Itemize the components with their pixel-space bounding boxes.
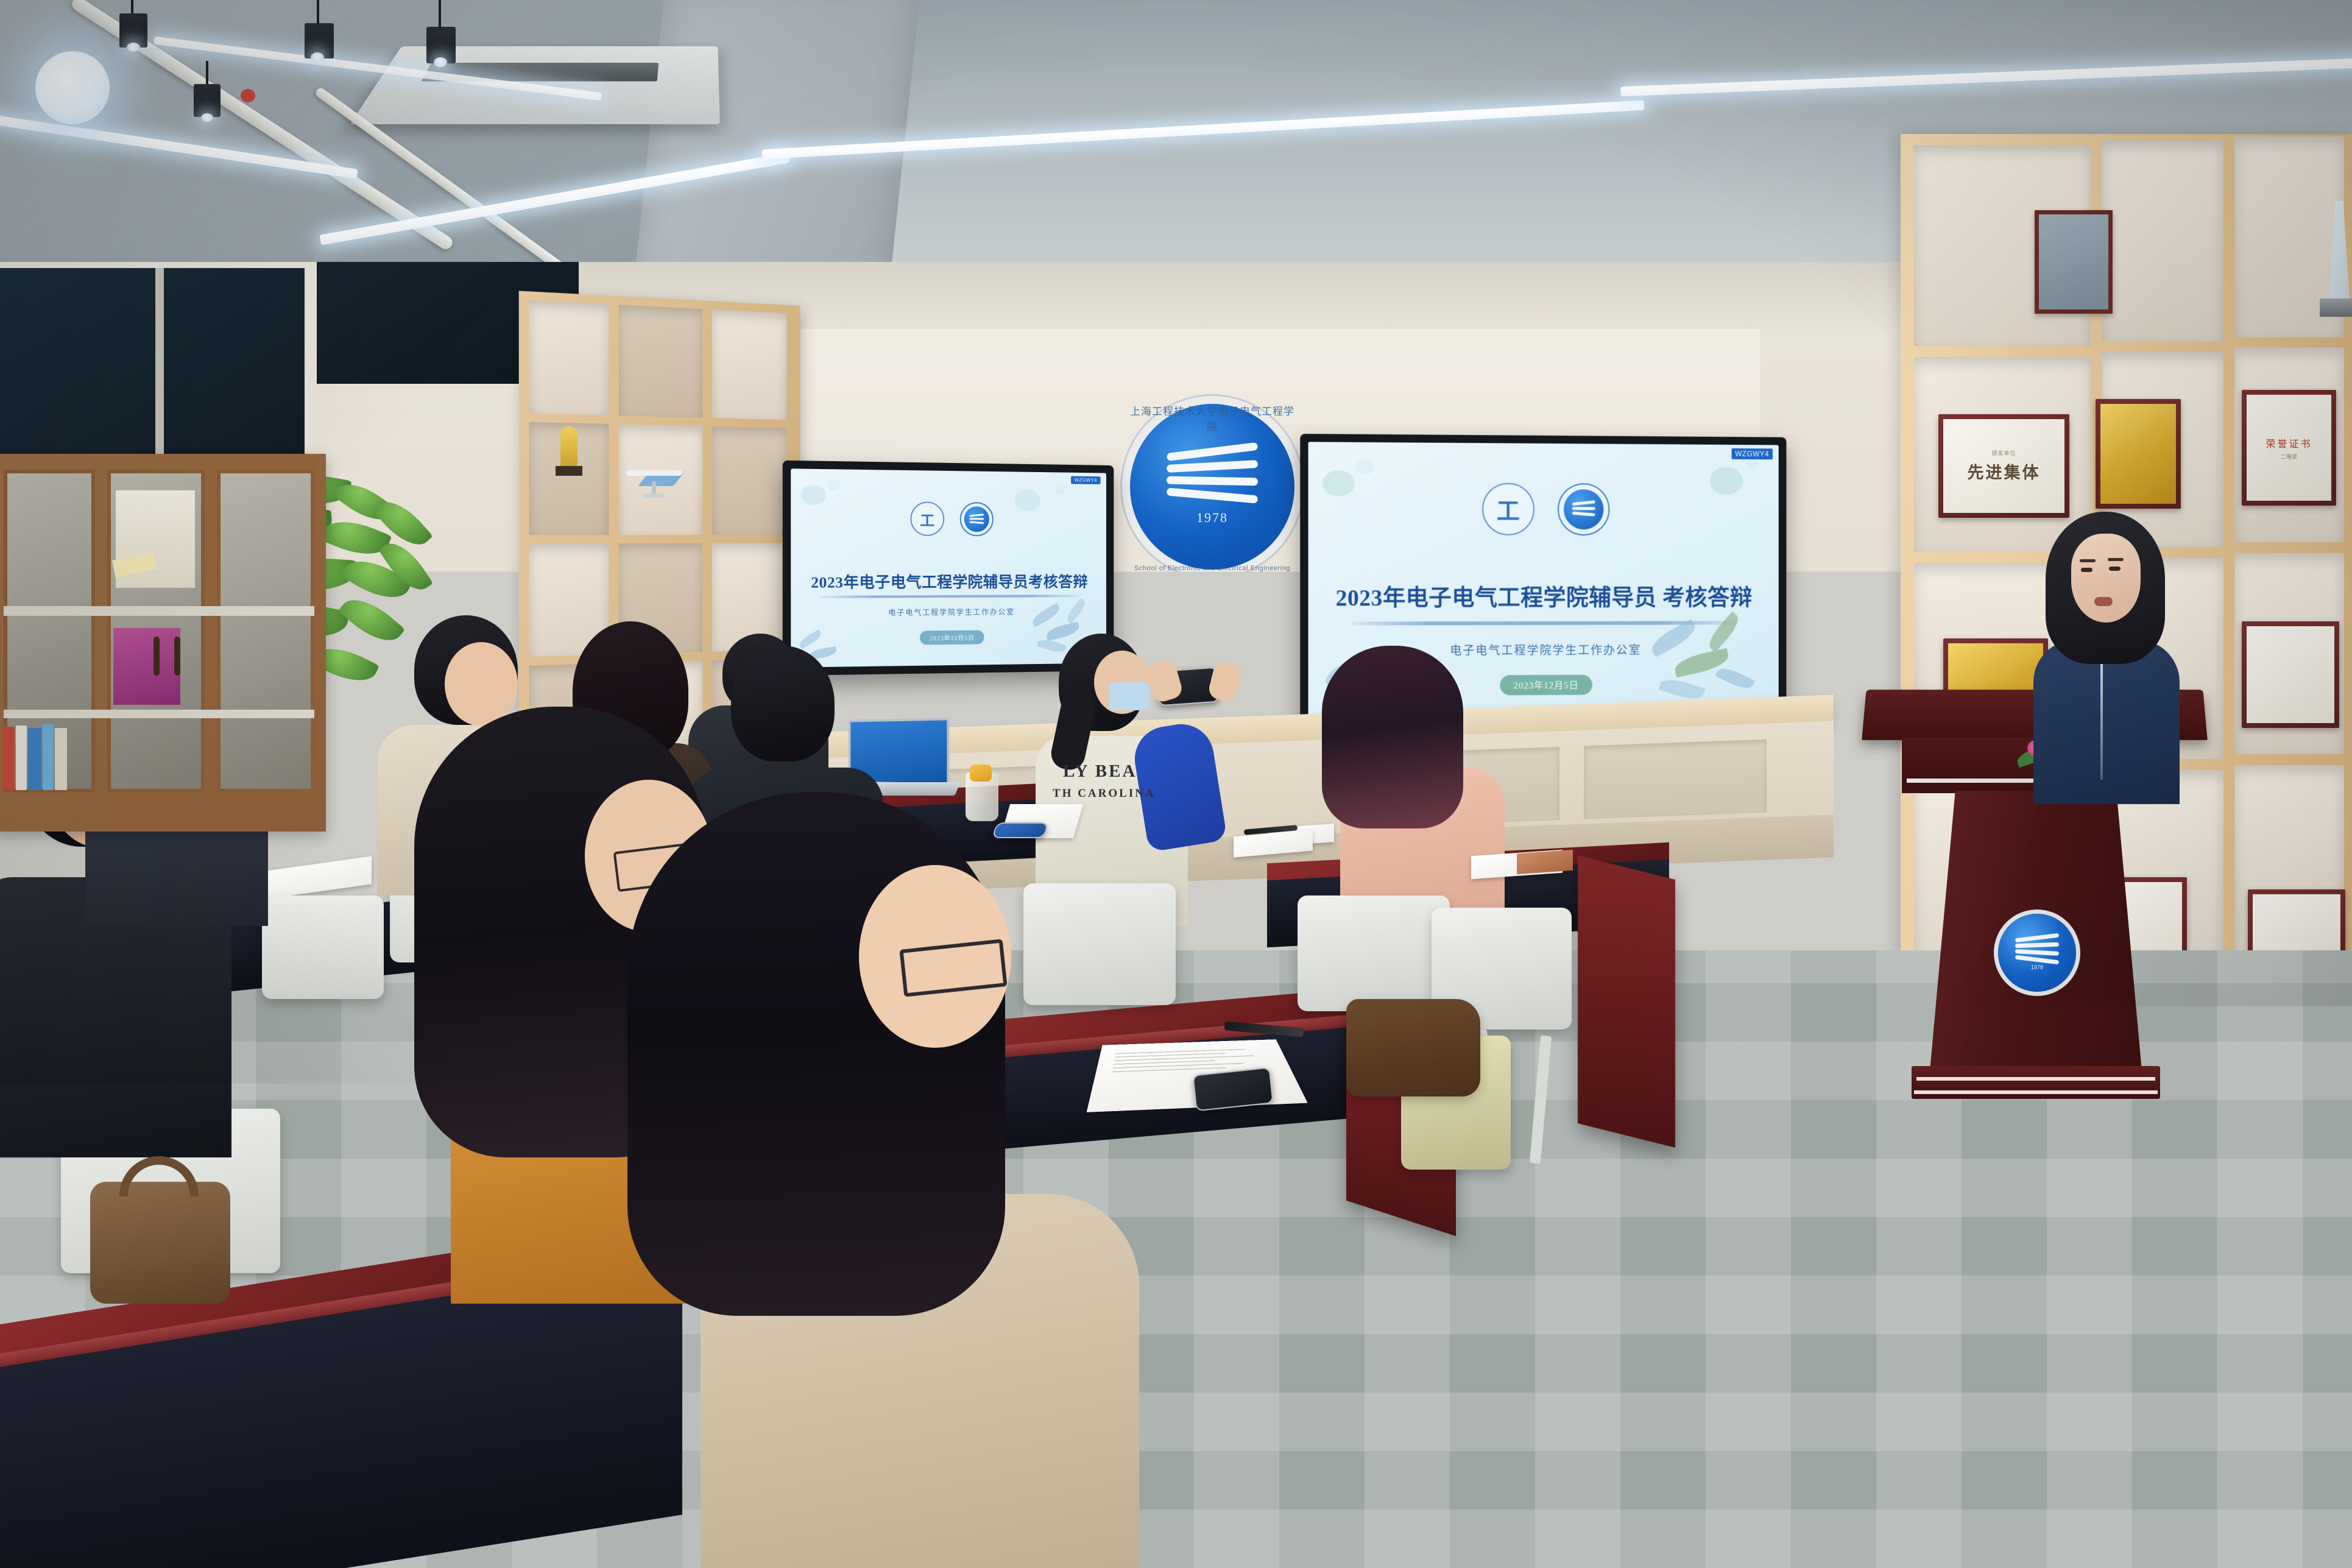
- spotlight-bulb: [127, 43, 140, 52]
- slide-watermark: WZGWY4: [1732, 448, 1773, 459]
- presenter-necklace: [2100, 664, 2103, 780]
- gold-shield-plaque: [2096, 399, 2181, 509]
- trophy-base: [2320, 298, 2352, 317]
- certificate-body: 二等奖: [2281, 453, 2297, 461]
- ceiling-slab: [0, 0, 731, 286]
- chair[interactable]: [1298, 895, 1450, 1011]
- conference-room-photo: 1978 上海工程技术大学电子电气工程学院 School of Electron…: [0, 0, 2352, 1568]
- glass-document-cabinet[interactable]: [0, 454, 326, 832]
- presenter-torso: [2033, 640, 2180, 804]
- slide-title: 2023年电子电气工程学院辅导员考核答辩: [800, 570, 1097, 593]
- audience-member-foreground: [627, 792, 1139, 1568]
- chair[interactable]: [262, 895, 384, 999]
- window-mullion: [155, 268, 164, 469]
- certificate-title: 荣誉证书: [2265, 436, 2312, 450]
- honor-certificate-plaque: 荣誉证书 二等奖: [2242, 390, 2336, 506]
- jacket-text-line1: LY BEA: [1063, 761, 1137, 782]
- pipe-valve-marker: [241, 89, 255, 102]
- slide-watermark: WZGWY4: [1071, 476, 1100, 484]
- mid-table-side: [1578, 855, 1675, 1148]
- handbag: [90, 1182, 230, 1304]
- slide-logo-left-mark: 工: [920, 508, 934, 529]
- cabinet-handle[interactable]: [154, 637, 160, 676]
- spotlight-bulb: [434, 57, 447, 67]
- wood-block-nameplate: [1517, 850, 1573, 874]
- airplane-fuselage: [626, 470, 682, 476]
- globe-pendant-light: [35, 51, 110, 124]
- cup-topper: [970, 765, 992, 782]
- podium-foot-stripe: [1914, 1090, 2158, 1094]
- pendant-wire: [317, 0, 319, 24]
- poster-in-cabinet: [113, 628, 180, 705]
- slide-title: 2023年电子电气工程学院辅导员 考核答辩: [1323, 579, 1765, 613]
- spotlight-bulb: [311, 52, 324, 62]
- slide-logo-right: [1558, 483, 1609, 535]
- slide-logo-right: [960, 502, 994, 536]
- certificate-plaque: [2242, 621, 2339, 728]
- podium-emblem-year: 1978: [2031, 964, 2043, 970]
- airplane-model: [626, 463, 682, 484]
- spotlight-bulb: [201, 113, 213, 122]
- podium-emblem: 1978: [1998, 914, 2076, 992]
- framed-photo: [2035, 210, 2113, 314]
- face-mask: [1109, 682, 1149, 710]
- presenter-face: [2071, 534, 2141, 623]
- podium-foot-stripe: [1916, 1077, 2155, 1081]
- spotlight-fixture: [194, 84, 221, 117]
- school-emblem: 1978: [1130, 404, 1294, 570]
- presenter-mouth: [2094, 597, 2113, 606]
- window-dark-left: [0, 268, 305, 469]
- pendant-wire: [206, 61, 208, 85]
- airplane-stand-base: [645, 493, 664, 498]
- slide-logo-left: 工: [1482, 482, 1534, 535]
- slide-logo-left-mark: 工: [1497, 492, 1520, 526]
- podium-emblem-book-icon: [2015, 936, 2059, 962]
- plaque-title: 先进集体: [1968, 459, 2041, 483]
- presenter-at-podium: [2033, 512, 2180, 798]
- airplane-stand: [652, 481, 656, 495]
- trophy-base: [556, 466, 582, 476]
- pendant-wire: [439, 0, 441, 28]
- pendant-wire: [131, 0, 133, 15]
- slide-date-badge: 2023年12月5日: [920, 630, 984, 645]
- draped-coat-sleeve: [1346, 999, 1480, 1097]
- emblem-year: 1978: [1196, 510, 1228, 526]
- gold-trophy: [560, 426, 577, 469]
- cabinet-handle[interactable]: [174, 637, 180, 676]
- emblem-book-icon: [1167, 448, 1258, 505]
- plaque-issuer: 颁发单位: [1991, 449, 2016, 457]
- advanced-collective-plaque: 颁发单位 先进集体: [1938, 414, 2069, 518]
- slide-logo-left: 工: [910, 501, 944, 536]
